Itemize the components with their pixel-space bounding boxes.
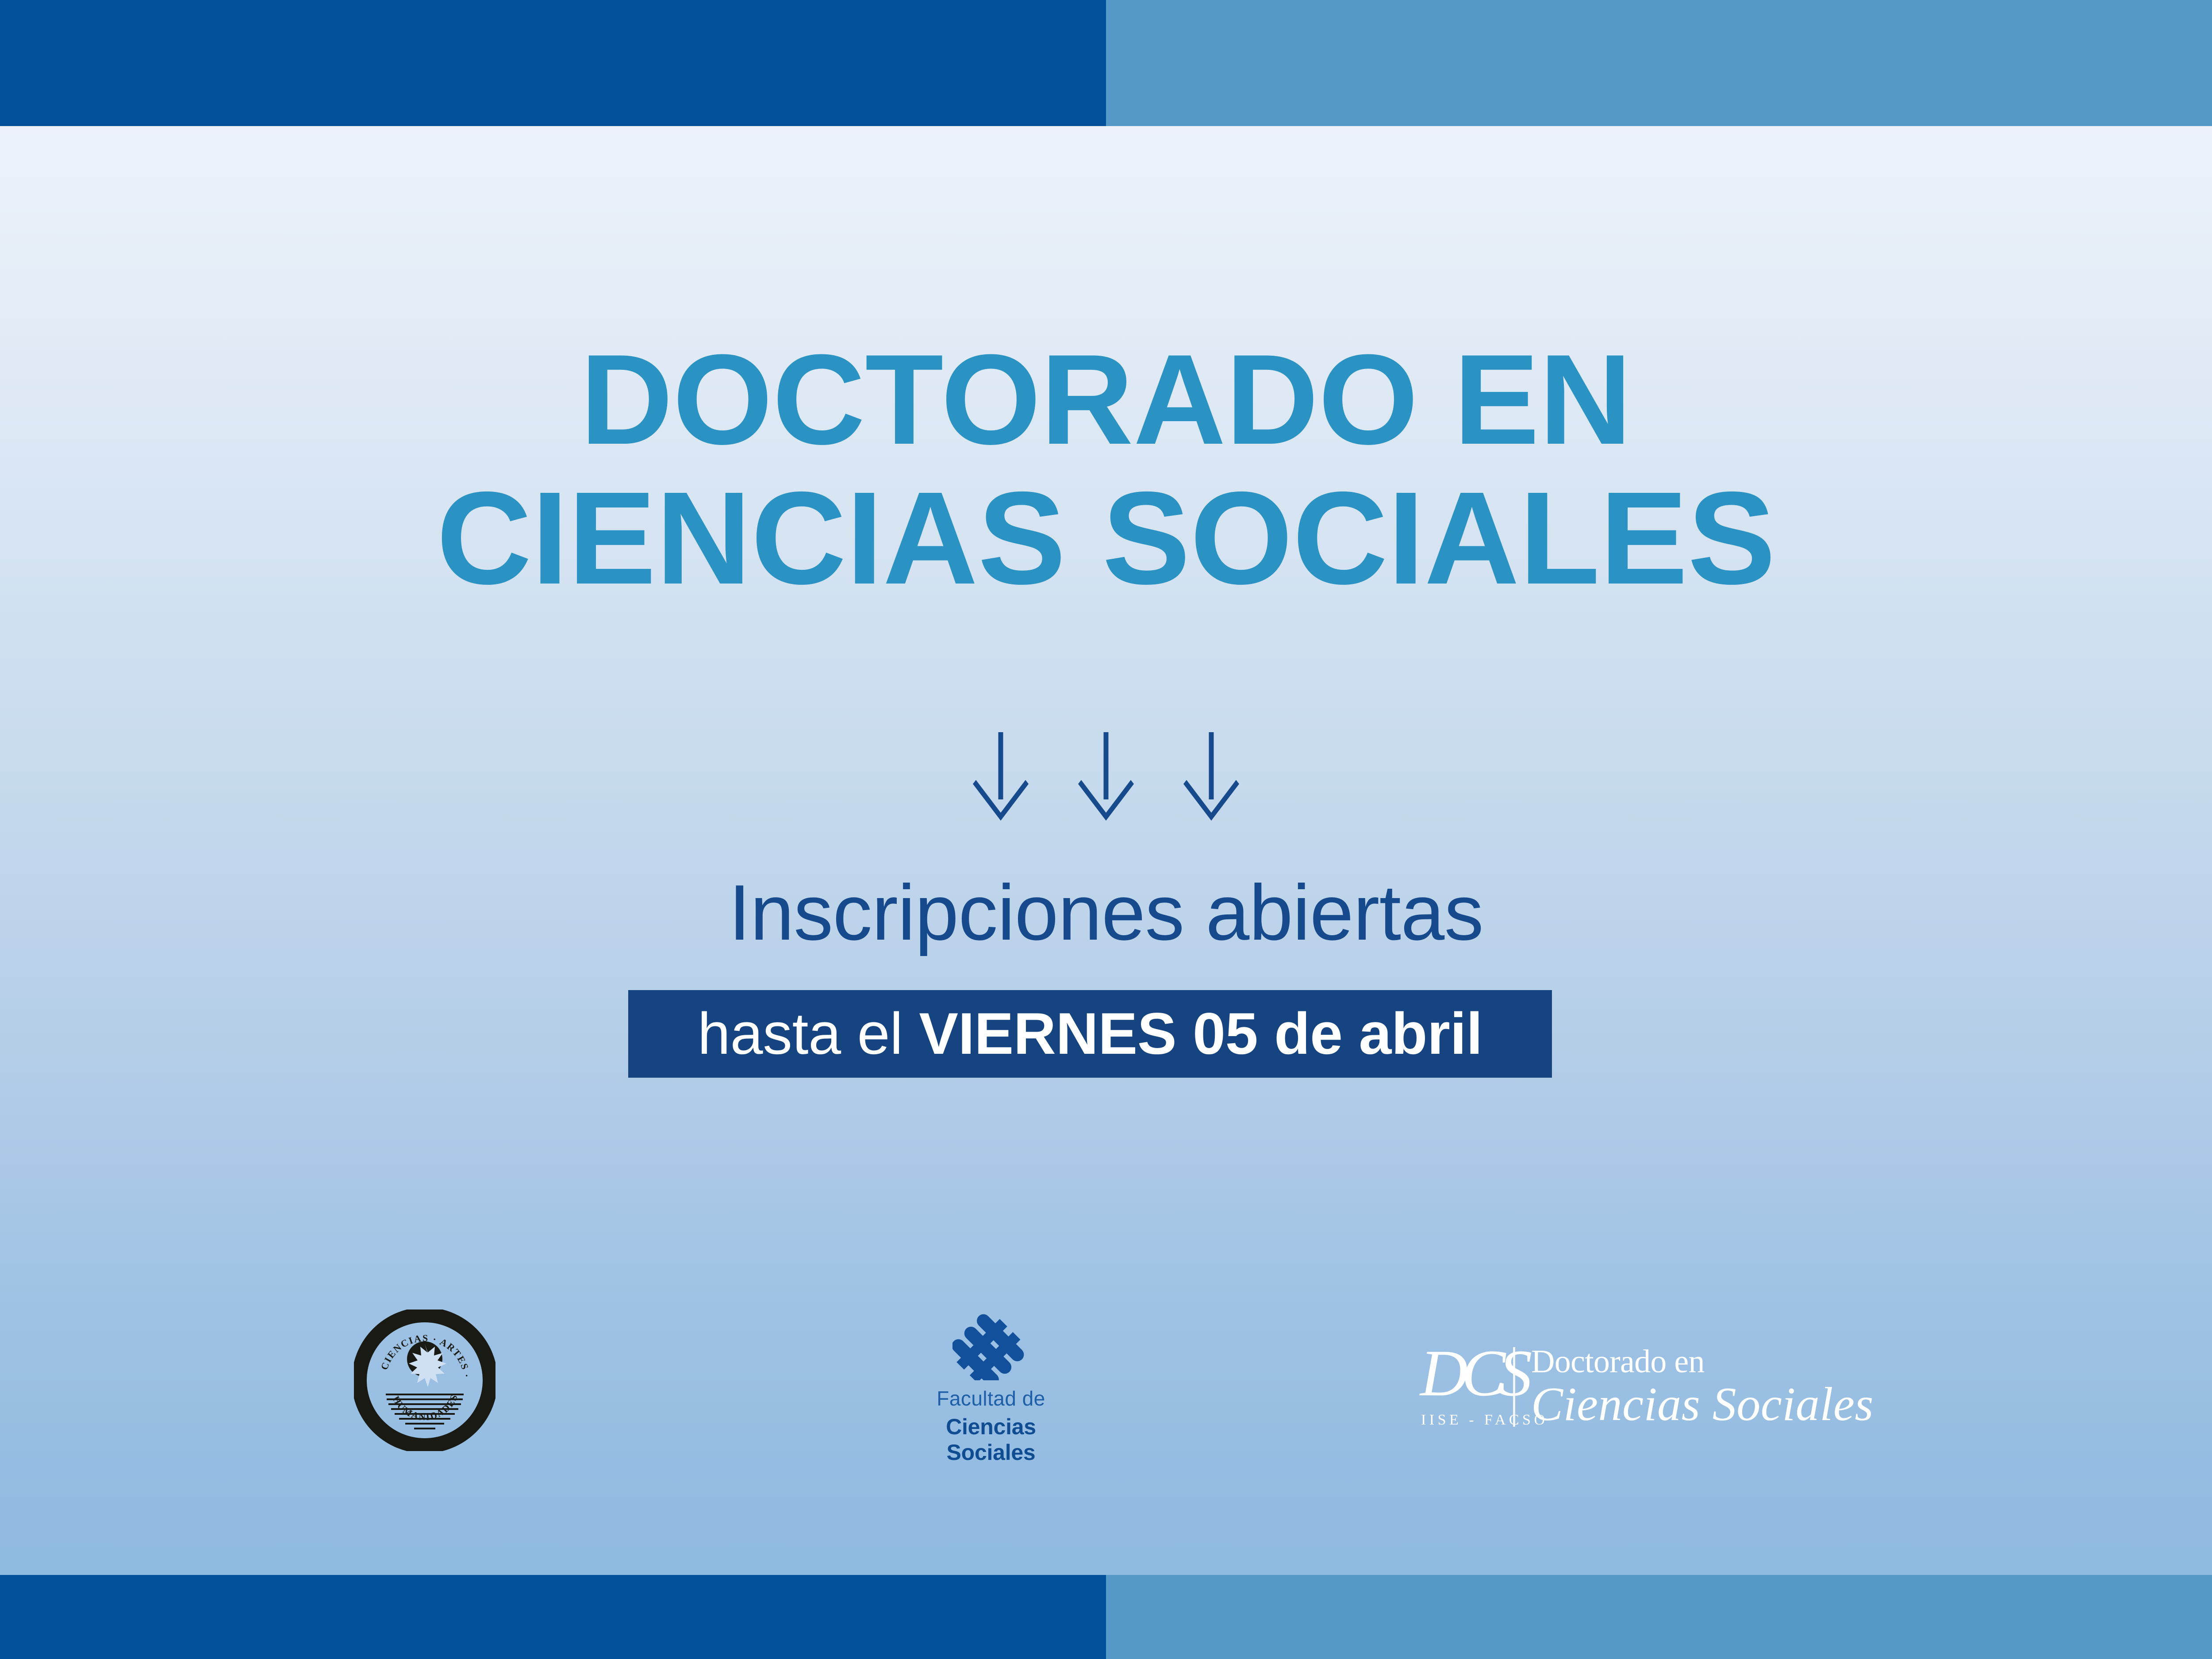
dcs-line-2: Ciencias Sociales <box>1531 1381 1874 1429</box>
poster-canvas: DOCTORADO EN CIENCIAS SOCIALES Inscripci… <box>0 0 2212 1659</box>
dcs-divider <box>1513 1347 1515 1427</box>
deadline-prefix: hasta el <box>698 1001 919 1067</box>
dcs-institutes-label: IISE - FACSO <box>1421 1412 1548 1429</box>
top-bar-light-half <box>1106 0 2212 126</box>
arrow-down-icon <box>973 732 1029 821</box>
deadline-date: VIERNES 05 de abril <box>919 1001 1482 1067</box>
subtitle-text: Inscripciones abiertas <box>0 867 2212 958</box>
bottom-bar-dark-half <box>0 1575 1106 1659</box>
faculty-logo: Facultad de Ciencias Sociales <box>911 1314 1071 1465</box>
dcs-line-1: Doctorado en <box>1531 1345 1874 1379</box>
dcs-program-logo: DCS IISE - FACSO Doctorado en Ciencias S… <box>1420 1336 1951 1438</box>
faculty-line-1: Facultad de <box>911 1386 1071 1410</box>
faculty-line-2: Ciencias Sociales <box>911 1414 1071 1465</box>
headline-line-1: DOCTORADO EN <box>0 336 2212 463</box>
dcs-monogram: DCS IISE - FACSO <box>1420 1343 1509 1431</box>
university-seal-icon: CIENCIAS · ARTES · HUMANIDADES <box>354 1310 495 1451</box>
bottom-bar-light-half <box>1106 1575 2212 1659</box>
bottom-accent-bar <box>0 1575 2212 1659</box>
university-seal-logo: CIENCIAS · ARTES · HUMANIDADES <box>354 1310 495 1451</box>
logo-strip: CIENCIAS · ARTES · HUMANIDADES <box>0 1310 2212 1486</box>
arrow-group <box>0 732 2212 821</box>
top-bar-dark-half <box>0 0 1106 126</box>
dcs-monogram-letters: DCS <box>1420 1340 1525 1406</box>
deadline-text: hasta el VIERNES 05 de abril <box>698 1000 1482 1068</box>
page-title: DOCTORADO EN CIENCIAS SOCIALES <box>0 336 2212 603</box>
headline-line-2: CIENCIAS SOCIALES <box>0 473 2212 603</box>
arrow-down-icon <box>1183 732 1239 821</box>
faculty-emblem-icon <box>952 1314 1030 1380</box>
top-accent-bar <box>0 0 2212 126</box>
arrow-down-icon <box>1078 732 1134 821</box>
deadline-banner: hasta el VIERNES 05 de abril <box>628 990 1552 1078</box>
